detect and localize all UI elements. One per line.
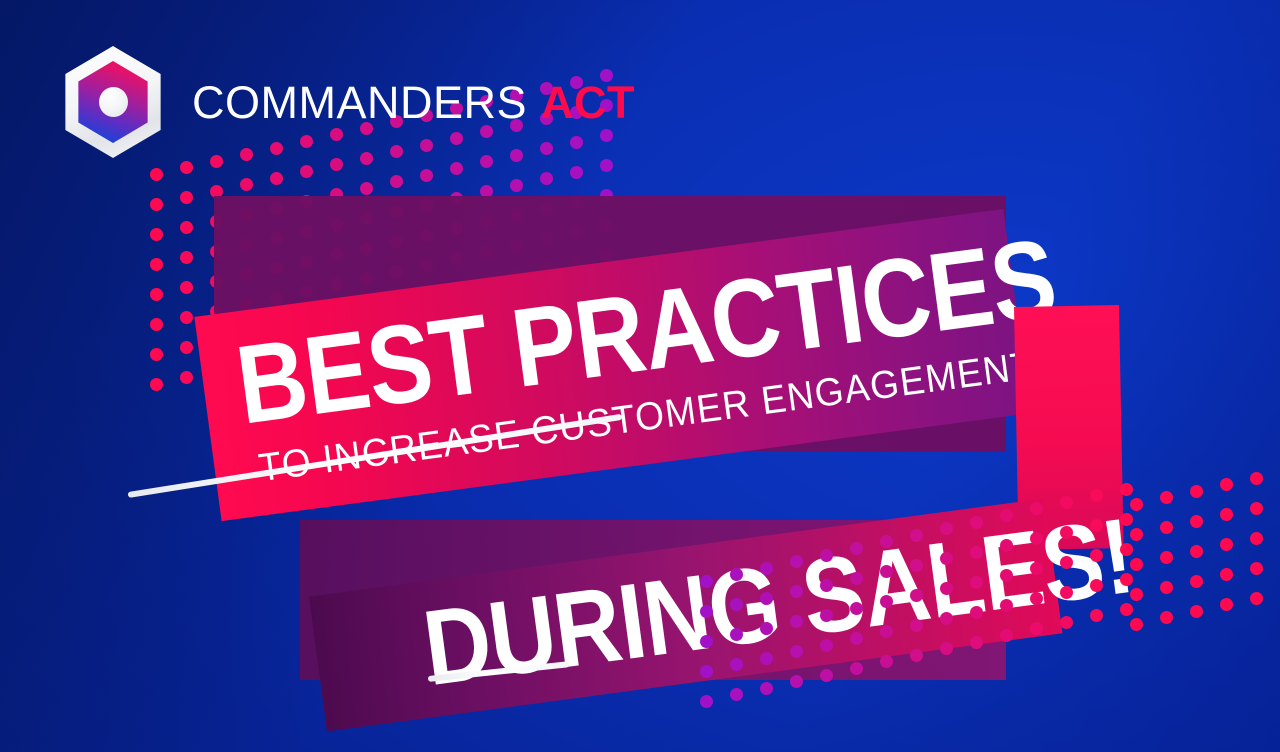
dot (1250, 562, 1263, 575)
dot (150, 318, 163, 331)
dot (760, 682, 773, 695)
commanders-act-hexagon-logo (58, 46, 168, 158)
dot (1250, 532, 1263, 545)
dot (1250, 592, 1263, 605)
dot (1120, 573, 1133, 586)
dot (1120, 603, 1133, 616)
dot (1000, 539, 1013, 552)
dot (1130, 558, 1143, 571)
dot (300, 165, 313, 178)
dot (1190, 605, 1203, 618)
dot (450, 162, 463, 175)
dot (700, 575, 713, 588)
dot (910, 529, 923, 542)
brand-wordmark: COMMANDERS ACT (192, 80, 635, 125)
dot (1120, 543, 1133, 556)
dot (1190, 575, 1203, 588)
banner-canvas: BEST PRACTICES TO INCREASE CUSTOMER ENGA… (0, 0, 1280, 752)
dot (970, 636, 983, 649)
brand-lockup: COMMANDERS ACT (58, 46, 635, 158)
dot (970, 576, 983, 589)
dot (700, 695, 713, 708)
dot (700, 665, 713, 678)
logo-center-dot-icon (99, 87, 128, 117)
dot (760, 622, 773, 635)
dot (820, 609, 833, 622)
dot (910, 649, 923, 662)
dot (570, 166, 583, 179)
dot (150, 258, 163, 271)
dot (1130, 588, 1143, 601)
dot (970, 546, 983, 559)
dot (760, 592, 773, 605)
dot (820, 639, 833, 652)
dot (1060, 616, 1073, 629)
dot (1060, 526, 1073, 539)
dot (1190, 545, 1203, 558)
dot (850, 632, 863, 645)
dot (150, 288, 163, 301)
dot (820, 669, 833, 682)
dot (1120, 513, 1133, 526)
dot (600, 159, 613, 172)
dot (850, 572, 863, 585)
dot (1120, 483, 1133, 496)
dot (700, 635, 713, 648)
dot (1000, 629, 1013, 642)
dot (760, 652, 773, 665)
dot (850, 662, 863, 675)
dot (1000, 509, 1013, 522)
dot (1060, 496, 1073, 509)
dot (510, 179, 523, 192)
dot (1000, 599, 1013, 612)
dot (1060, 586, 1073, 599)
dot (1190, 515, 1203, 528)
dot (850, 542, 863, 555)
dot (1130, 498, 1143, 511)
dot (150, 378, 163, 391)
brand-name-primary: COMMANDERS (192, 80, 527, 125)
dot (150, 198, 163, 211)
dot (150, 228, 163, 241)
dot (970, 606, 983, 619)
dot (150, 348, 163, 361)
dot (1250, 472, 1263, 485)
dot (270, 172, 283, 185)
dot (820, 549, 833, 562)
dot (1130, 528, 1143, 541)
dot (760, 562, 773, 575)
dot (1130, 618, 1143, 631)
dot (700, 605, 713, 618)
dot (360, 182, 373, 195)
brand-name-accent: ACT (541, 80, 635, 125)
dot (850, 602, 863, 615)
dot (1000, 569, 1013, 582)
dot (910, 559, 923, 572)
dot (1060, 556, 1073, 569)
dot (910, 619, 923, 632)
dot (910, 589, 923, 602)
dot (1190, 485, 1203, 498)
dot (970, 516, 983, 529)
dot (820, 579, 833, 592)
dot (150, 168, 163, 181)
dot (420, 169, 433, 182)
dot (1250, 502, 1263, 515)
